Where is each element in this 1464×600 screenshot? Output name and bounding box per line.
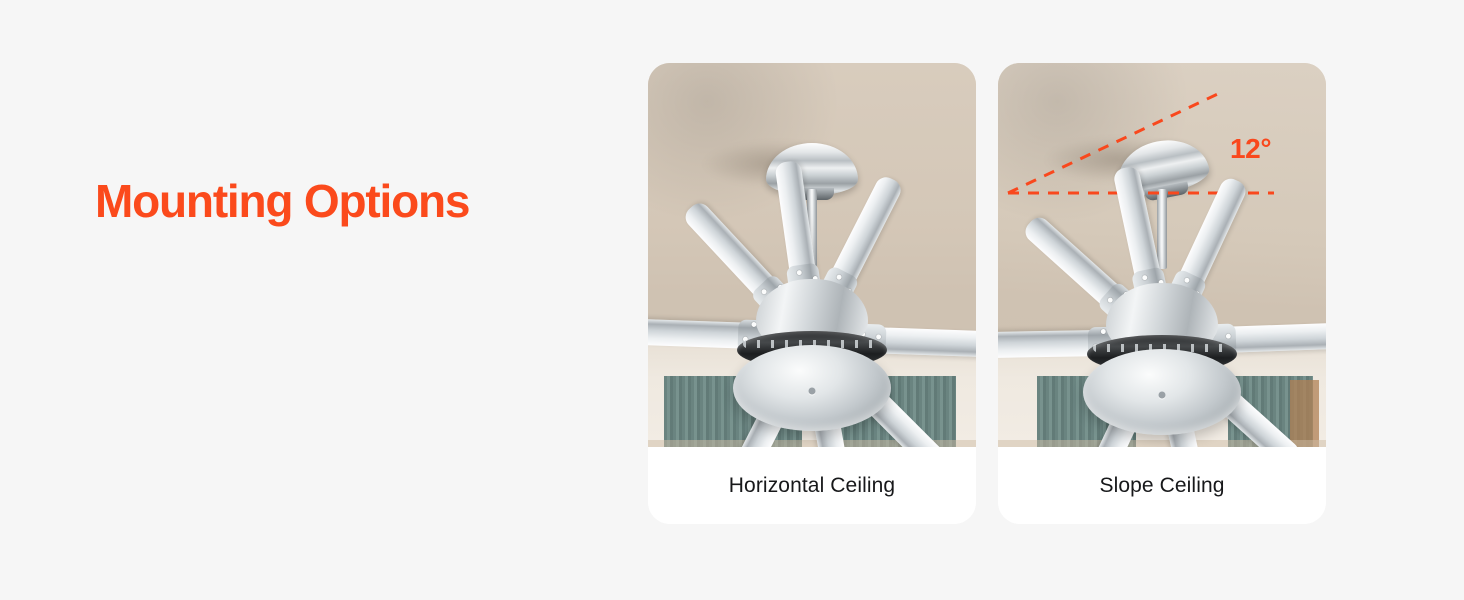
angle-value-label: 12° [1230,133,1271,165]
hub-plate [1083,349,1241,435]
mounting-option-card-slope[interactable]: 12° Slope Ceiling [998,63,1326,524]
card-caption-slope: Slope Ceiling [998,447,1326,524]
hub-plate [733,345,891,431]
fan-hub [726,325,898,443]
page-title: Mounting Options [95,178,469,224]
mounting-option-card-horizontal[interactable]: Horizontal Ceiling [648,63,976,524]
horizontal-ceiling-photo [648,63,976,447]
door-frame [1290,380,1320,447]
fan-hub [1076,329,1248,447]
mounting-options-banner: Mounting Options [0,0,1464,600]
slope-ceiling-photo: 12° [998,63,1326,447]
downrod [1157,189,1167,269]
card-caption-horizontal: Horizontal Ceiling [648,447,976,524]
